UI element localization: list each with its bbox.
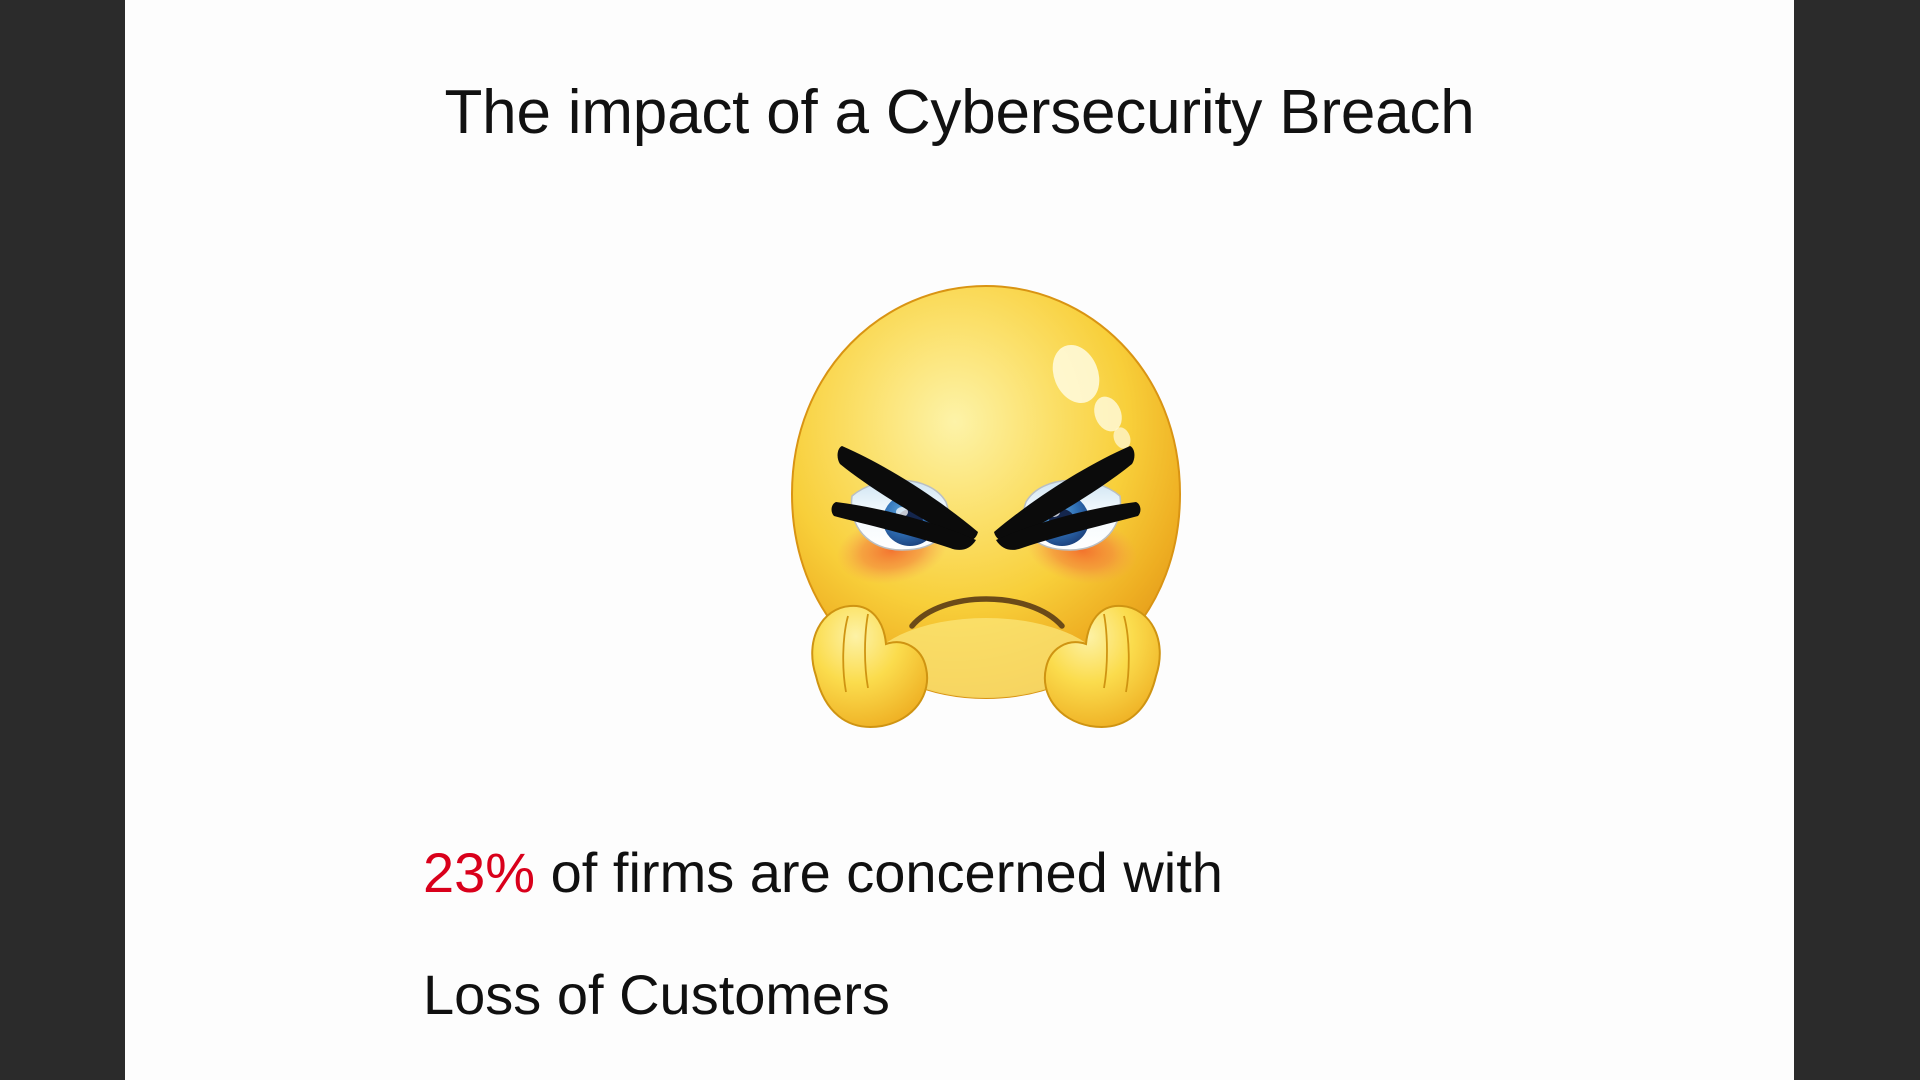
presentation-slide: The impact of a Cybersecurity Breach: [125, 0, 1794, 1080]
body-line-1: 23% of firms are concerned with: [423, 812, 1763, 934]
letterbox-bar-right: [1794, 0, 1920, 1080]
angry-emoji-image: [770, 278, 1202, 730]
slide-viewer: The impact of a Cybersecurity Breach: [0, 0, 1920, 1080]
letterbox-bar-left: [0, 0, 125, 1080]
stat-percentage: 23%: [423, 841, 535, 904]
slide-title: The impact of a Cybersecurity Breach: [125, 82, 1794, 144]
body-line-1-text: of firms are concerned with: [535, 841, 1223, 904]
body-line-2: Loss of Customers: [423, 934, 1763, 1056]
slide-body-text: 23% of firms are concerned with Loss of …: [423, 812, 1763, 1056]
